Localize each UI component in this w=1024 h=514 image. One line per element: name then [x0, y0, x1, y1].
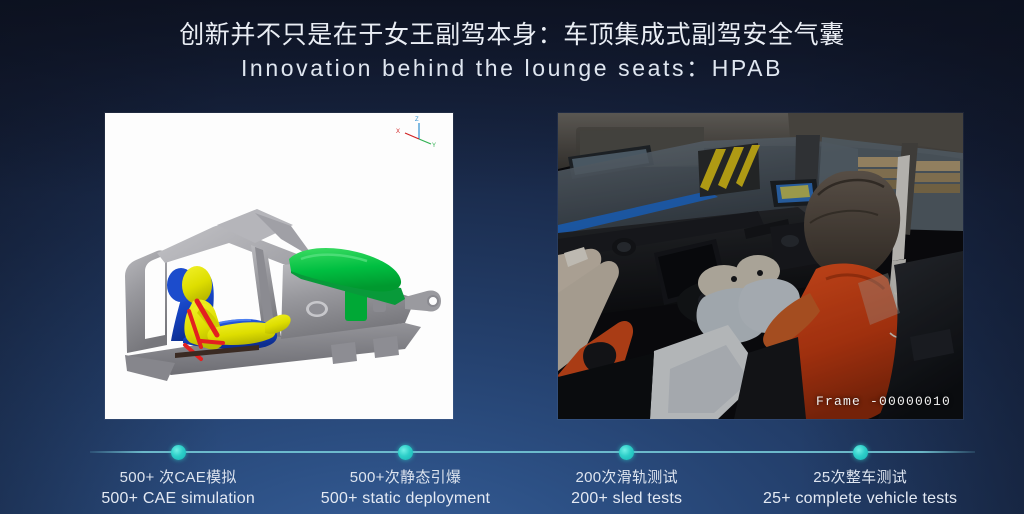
slide-title-english: Innovation behind the lounge seats：HPAB — [0, 52, 1024, 85]
frame-counter-overlay: Frame -00000010 — [816, 394, 951, 409]
cae-simulation-graphic: Z Y X — [105, 113, 453, 419]
media-row: Z Y X — [0, 113, 1024, 419]
timeline-label-4-en: 25+ complete vehicle tests — [763, 488, 957, 510]
cae-simulation-image: Z Y X — [105, 113, 453, 419]
timeline-label-2: 500+次静态引爆 500+ static deployment — [321, 467, 490, 510]
timeline-label-1-cn: 500+ 次CAE模拟 — [101, 467, 255, 488]
crash-test-photo: Frame -00000010 — [558, 113, 963, 419]
timeline-label-2-cn: 500+次静态引爆 — [321, 467, 490, 488]
svg-text:X: X — [396, 129, 400, 135]
timeline-label-2-en: 500+ static deployment — [321, 488, 490, 510]
svg-text:Z: Z — [415, 117, 419, 123]
timeline-label-3: 200次滑轨测试 200+ sled tests — [571, 467, 682, 510]
svg-text:Y: Y — [432, 143, 436, 149]
crash-test-photo-graphic — [558, 113, 963, 419]
timeline-label-4-cn: 25次整车测试 — [763, 467, 957, 488]
timeline-label-4: 25次整车测试 25+ complete vehicle tests — [763, 467, 957, 510]
timeline-label-3-cn: 200次滑轨测试 — [571, 467, 682, 488]
timeline-dot-4[interactable] — [853, 445, 868, 460]
timeline-label-1: 500+ 次CAE模拟 500+ CAE simulation — [101, 467, 255, 510]
timeline-axis-line — [90, 451, 975, 453]
stats-timeline: 500+ 次CAE模拟 500+ CAE simulation 500+次静态引… — [0, 440, 1024, 514]
presentation-slide: 创新并不只是在于女王副驾本身：车顶集成式副驾安全气囊 Innovation be… — [0, 0, 1024, 514]
timeline-dot-3[interactable] — [619, 445, 634, 460]
slide-title-chinese: 创新并不只是在于女王副驾本身：车顶集成式副驾安全气囊 — [0, 18, 1024, 52]
timeline-label-3-en: 200+ sled tests — [571, 488, 682, 510]
timeline-label-1-en: 500+ CAE simulation — [101, 488, 255, 510]
timeline-dot-1[interactable] — [171, 445, 186, 460]
slide-title-block: 创新并不只是在于女王副驾本身：车顶集成式副驾安全气囊 Innovation be… — [0, 18, 1024, 85]
timeline-dot-2[interactable] — [398, 445, 413, 460]
